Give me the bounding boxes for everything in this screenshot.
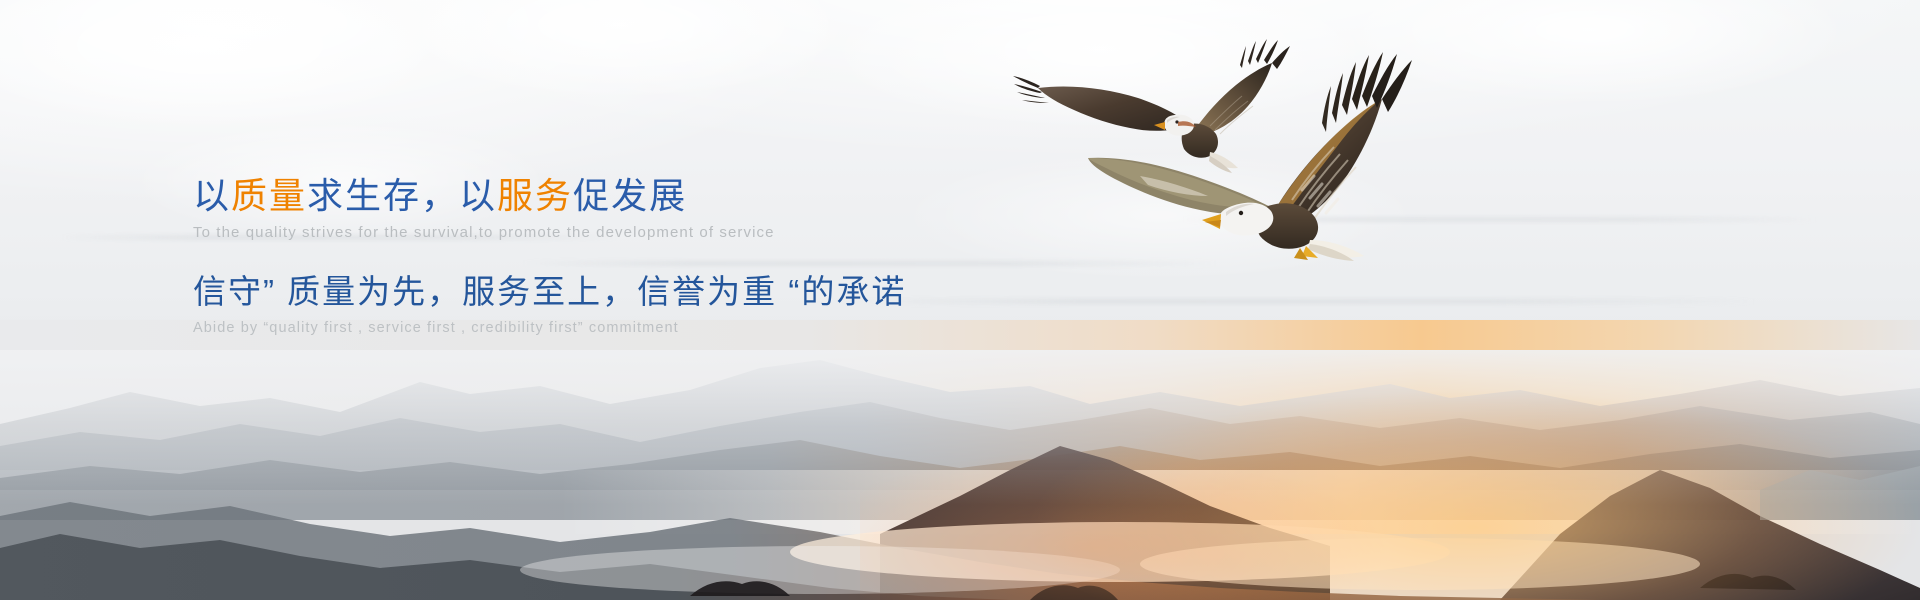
cloud-wisp <box>0 0 460 130</box>
slogan-line-1: 以质量求生存，以服务促发展 <box>193 176 1193 216</box>
slogan-line-2: 信守” 质量为先，服务至上，信誉为重 “的承诺 <box>193 273 1193 311</box>
slogan-line-2-english: Abide by “quality first , service first … <box>193 320 1193 336</box>
slogan-block: 以质量求生存，以服务促发展 To the quality strives for… <box>193 176 1193 336</box>
mountain-range <box>0 320 1920 600</box>
eagle-upper <box>1013 39 1290 173</box>
valley-mist <box>1140 538 1700 590</box>
cloud-wisp <box>380 0 860 100</box>
hero-banner: 以质量求生存，以服务促发展 To the quality strives for… <box>0 0 1920 600</box>
valley-mist <box>520 546 1120 594</box>
slogan-line-1-highlight-quality: 质量 <box>231 175 307 216</box>
slogan-line-1-english: To the quality strives for the survival,… <box>193 224 1193 241</box>
slogan-line-1-highlight-service: 服务 <box>497 175 573 216</box>
slogan-line-1-part-3: 求生存，以 <box>307 175 497 216</box>
slogan-line-1-part-5: 促发展 <box>573 175 687 216</box>
slogan-line-1-part-1: 以 <box>193 175 231 216</box>
mountain-landscape <box>0 320 1920 600</box>
